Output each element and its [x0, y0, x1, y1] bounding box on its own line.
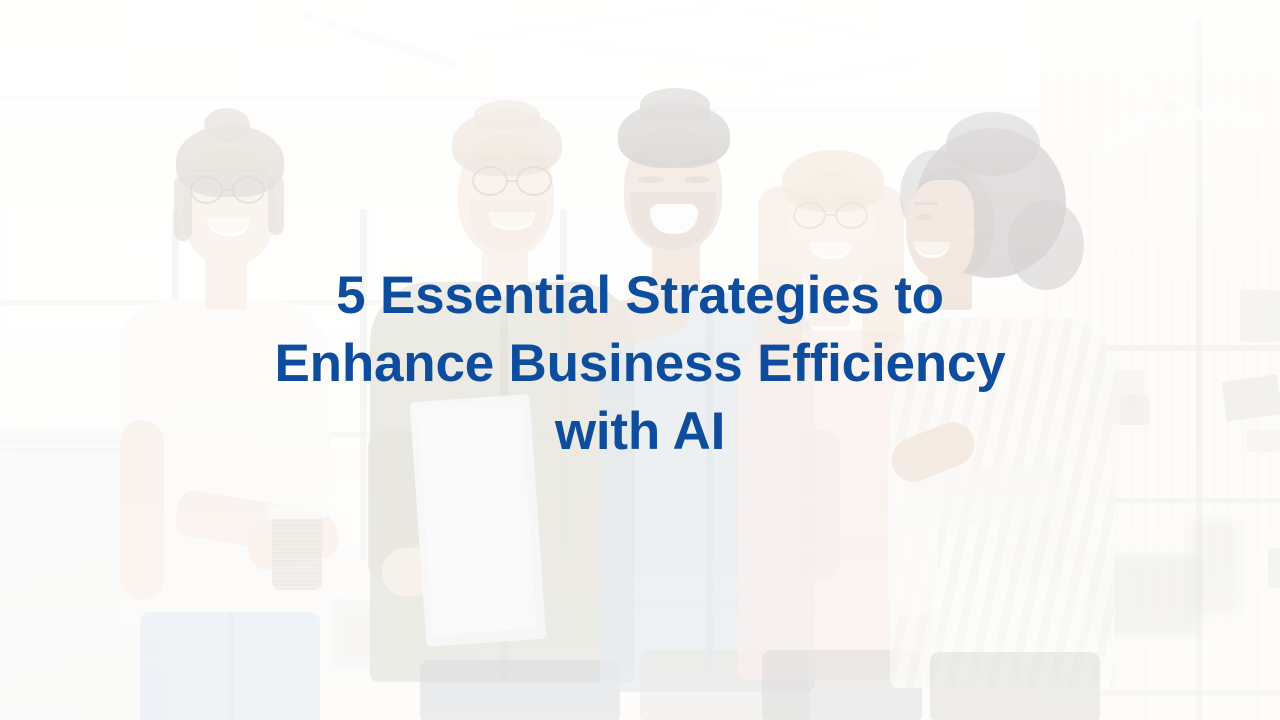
coffee-cup	[272, 512, 322, 590]
shelf-board	[1100, 498, 1280, 503]
hero-banner: 5 Essential Strategies to Enhance Busine…	[0, 0, 1280, 720]
earring	[968, 230, 975, 237]
headline-container: 5 Essential Strategies to Enhance Busine…	[0, 262, 1280, 466]
shelf-board	[1100, 690, 1280, 696]
coffee-cup-lid	[268, 505, 326, 519]
shelf-item	[1268, 548, 1280, 588]
banner-headline: 5 Essential Strategies to Enhance Busine…	[60, 262, 1220, 466]
background-furniture	[1188, 520, 1238, 615]
